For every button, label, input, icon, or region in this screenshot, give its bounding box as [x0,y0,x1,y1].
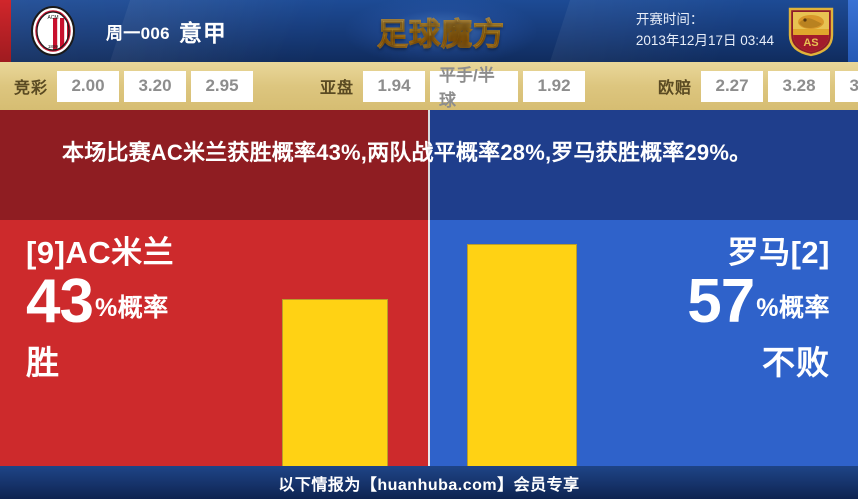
header-right-blue-stripe [848,0,858,62]
header-left-red-stripe [0,0,11,62]
home-team-name: [9]AC米兰 [26,236,270,270]
brand-logo[interactable]: 足球魔方 [346,6,536,56]
away-team-name: 罗马[2] [580,236,830,270]
svg-text:AS: AS [803,37,818,49]
home-outcome-label: 胜 [26,336,270,384]
home-percent-row: 43 %概率 [26,272,270,332]
away-probability-bar [467,244,577,466]
odds-cell-home[interactable]: 2.00 [57,71,119,102]
home-percent-value: 43 [26,272,93,332]
odds-group-title: 欧赔 [658,74,692,98]
away-percent-row: 57 %概率 [580,272,830,332]
handicap-cell-home[interactable]: 1.94 [363,71,425,102]
kickoff-info: 开赛时间： 2013年12月17日 03:44 [636,10,774,52]
odds-group-title: 竞彩 [14,74,48,98]
odds-cell-away[interactable]: 2.95 [191,71,253,102]
svg-text:1899: 1899 [48,44,59,49]
probability-banner: 本场比赛AC米兰获胜概率43%,两队战平概率28%,罗马获胜概率29%。 [0,110,858,220]
odds-group-jingcai: 竞彩 2.00 3.20 2.95 [14,62,258,110]
home-team-block: [9]AC米兰 43 %概率 胜 [26,236,270,384]
away-team-panel: 罗马[2] 57 %概率 不败 [430,220,858,466]
probability-summary-text: 本场比赛AC米兰获胜概率43%,两队战平概率28%,罗马获胜概率29%。 [62,136,802,169]
team-comparison: [9]AC米兰 43 %概率 胜 罗马[2] 57 %概率 不败 [0,220,858,466]
kickoff-label: 开赛时间： [636,10,774,31]
home-team-panel: [9]AC米兰 43 %概率 胜 [0,220,428,466]
odds-group-title: 亚盘 [320,74,354,98]
header-bar: ACM 1899 AS 周一006 意甲 足球魔方 [0,0,858,62]
away-outcome-label: 不败 [580,336,830,384]
footer-membership-text: 以下情报为【huanhuba.com】会员专享 [278,471,579,495]
odds-group-asian-handicap: 亚盘 1.94 平手/半球 1.92 [320,62,590,110]
handicap-cell-line[interactable]: 平手/半球 [430,71,518,102]
away-percent-value: 57 [687,272,754,332]
euro-cell-draw[interactable]: 3.28 [768,71,830,102]
euro-cell-away[interactable]: 3.06 [835,71,858,102]
match-number: 周一006 [106,19,170,44]
odds-cell-draw[interactable]: 3.20 [124,71,186,102]
euro-cell-home[interactable]: 2.27 [701,71,763,102]
handicap-cell-away[interactable]: 1.92 [523,71,585,102]
kickoff-time: 2013年12月17日 03:44 [636,31,774,52]
as-roma-crest-icon: AS [786,5,836,62]
svg-text:ACM: ACM [47,15,58,21]
ac-milan-crest-icon: ACM 1899 [27,5,79,62]
home-probability-bar [282,299,388,466]
match-prediction-graphic: ACM 1899 AS 周一006 意甲 足球魔方 [0,0,858,499]
odds-bar: 竞彩 2.00 3.20 2.95 亚盘 1.94 平手/半球 1.92 欧赔 … [0,62,858,110]
league-name: 意甲 [179,14,227,48]
match-title: 周一006 意甲 [106,0,227,62]
away-percent-suffix: %概率 [756,288,830,332]
away-team-block: 罗马[2] 57 %概率 不败 [580,236,830,384]
footer-bar: 以下情报为【huanhuba.com】会员专享 [0,466,858,499]
home-percent-suffix: %概率 [95,288,169,332]
brand-text: 足球魔方 [377,9,505,54]
odds-group-european: 欧赔 2.27 3.28 3.06 [658,62,858,110]
